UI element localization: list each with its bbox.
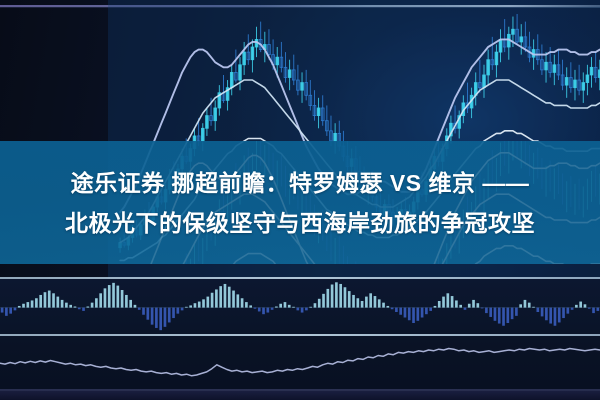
headline-banner: 途乐证券 挪超前瞻：特罗姆瑟 VS 维京 —— 北极光下的保级坚守与西海岸劲旅的… xyxy=(0,141,600,264)
headline-line-2: 北极光下的保级坚守与西海岸劲旅的争冠攻坚 xyxy=(65,203,535,243)
footer-strip xyxy=(0,389,600,400)
macd-histogram-chart xyxy=(0,279,600,334)
promo-banner-image: 途乐证券 挪超前瞻：特罗姆瑟 VS 维京 —— 北极光下的保级坚守与西海岸劲旅的… xyxy=(0,0,600,400)
headline-line-1: 途乐证券 挪超前瞻：特罗姆瑟 VS 维京 —— xyxy=(71,163,530,203)
equity-line-chart xyxy=(0,336,600,389)
panel-separator-middle xyxy=(0,334,600,336)
panel-separator-top xyxy=(0,277,600,279)
